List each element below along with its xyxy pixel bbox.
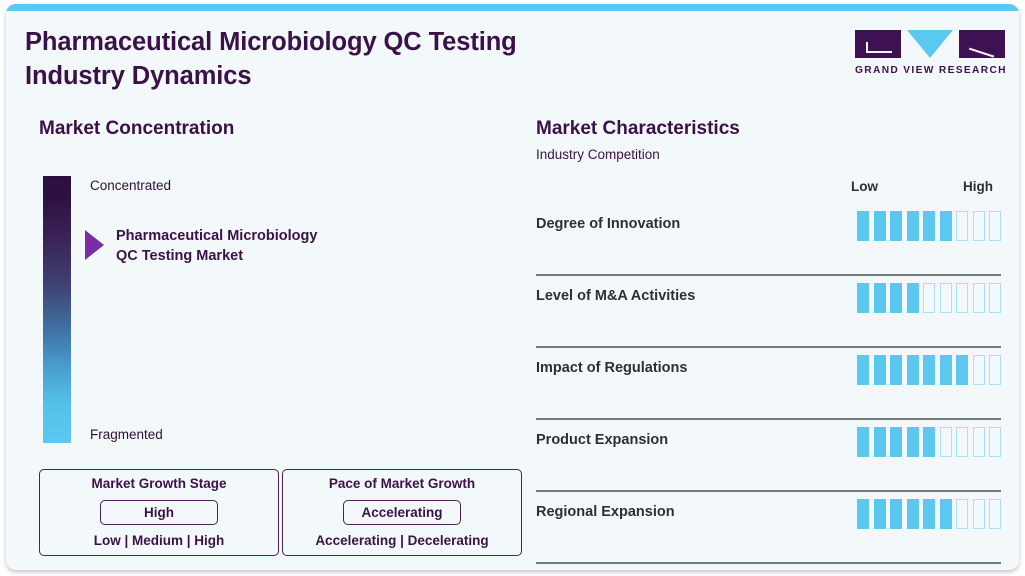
row-divider [536, 562, 1001, 564]
characteristic-rating [857, 355, 1001, 385]
rating-tick-empty [989, 211, 1001, 241]
rating-tick-filled [907, 427, 919, 457]
rating-tick-filled [890, 427, 902, 457]
rating-tick-empty [940, 283, 952, 313]
characteristic-row: Regional Expansion [536, 492, 1001, 564]
rating-tick-empty [973, 211, 985, 241]
rating-tick-filled [940, 355, 952, 385]
characteristic-rating [857, 499, 1001, 529]
page-title-line-2: Industry Dynamics [25, 60, 665, 94]
rating-tick-empty [973, 499, 985, 529]
characteristic-row: Degree of Innovation [536, 204, 1001, 276]
market-concentration-heading: Market Concentration [39, 118, 234, 140]
rating-tick-filled [907, 283, 919, 313]
rating-tick-empty [956, 499, 968, 529]
rating-tick-empty [940, 427, 952, 457]
rating-tick-filled [857, 283, 869, 313]
pace-of-market-growth-title: Pace of Market Growth [329, 476, 475, 491]
logo-g-block-icon [855, 30, 901, 58]
page-title: Pharmaceutical Microbiology QC Testing I… [25, 26, 665, 94]
rating-tick-filled [940, 499, 952, 529]
rating-tick-filled [907, 355, 919, 385]
rating-tick-empty [989, 355, 1001, 385]
market-characteristics-subheading: Industry Competition [536, 147, 660, 162]
characteristic-rating [857, 211, 1001, 241]
characteristic-row: Impact of Regulations [536, 348, 1001, 420]
rating-tick-filled [907, 499, 919, 529]
rating-tick-filled [874, 211, 886, 241]
market-position-label: Pharmaceutical Microbiology QC Testing M… [116, 227, 386, 266]
rating-tick-filled [890, 499, 902, 529]
market-position-label-line-1: Pharmaceutical Microbiology [116, 227, 386, 247]
scale-label-concentrated: Concentrated [90, 178, 171, 193]
concentration-gradient-bar [43, 176, 71, 443]
infographic-card: Pharmaceutical Microbiology QC Testing I… [6, 4, 1019, 570]
rating-tick-filled [857, 427, 869, 457]
rating-tick-empty [973, 355, 985, 385]
rating-tick-filled [874, 355, 886, 385]
page-title-line-1: Pharmaceutical Microbiology QC Testing [25, 26, 665, 60]
rating-tick-filled [874, 427, 886, 457]
characteristic-rating [857, 427, 1001, 457]
rating-tick-empty [989, 283, 1001, 313]
rating-tick-empty [973, 427, 985, 457]
characteristic-label: Degree of Innovation [536, 216, 680, 232]
logo-wordmark: GRAND VIEW RESEARCH [855, 65, 1005, 76]
logo-r-block-icon [959, 30, 1005, 58]
characteristic-label: Level of M&A Activities [536, 288, 695, 304]
rating-tick-filled [874, 499, 886, 529]
market-growth-stage-scale: Low | Medium | High [94, 533, 225, 548]
grand-view-research-logo: GRAND VIEW RESEARCH [855, 30, 1005, 76]
rating-tick-empty [989, 499, 1001, 529]
market-position-arrow-icon [85, 230, 104, 260]
rating-scale-low-label: Low [851, 179, 878, 194]
rating-tick-filled [940, 211, 952, 241]
rating-tick-empty [956, 283, 968, 313]
rating-scale-high-label: High [963, 179, 993, 194]
rating-tick-filled [923, 211, 935, 241]
rating-tick-filled [923, 427, 935, 457]
rating-tick-filled [857, 211, 869, 241]
rating-tick-empty [923, 283, 935, 313]
market-growth-stage-value: High [100, 500, 218, 525]
rating-tick-empty [973, 283, 985, 313]
rating-tick-filled [890, 283, 902, 313]
rating-tick-empty [956, 427, 968, 457]
rating-tick-filled [890, 211, 902, 241]
logo-marks [855, 30, 1005, 59]
characteristic-label: Product Expansion [536, 432, 668, 448]
characteristic-label: Impact of Regulations [536, 360, 687, 376]
rating-tick-empty [956, 211, 968, 241]
rating-tick-filled [890, 355, 902, 385]
logo-v-triangle-icon [907, 30, 953, 58]
rating-tick-filled [923, 499, 935, 529]
rating-tick-filled [857, 499, 869, 529]
scale-label-fragmented: Fragmented [90, 427, 163, 442]
rating-tick-empty [989, 427, 1001, 457]
characteristic-label: Regional Expansion [536, 504, 675, 520]
rating-tick-filled [923, 355, 935, 385]
pace-of-market-growth-box: Pace of Market Growth Accelerating Accel… [282, 469, 522, 556]
pace-of-market-growth-scale: Accelerating | Decelerating [315, 533, 488, 548]
characteristic-row: Level of M&A Activities [536, 276, 1001, 348]
characteristic-row: Product Expansion [536, 420, 1001, 492]
rating-tick-filled [874, 283, 886, 313]
market-growth-stage-box: Market Growth Stage High Low | Medium | … [39, 469, 279, 556]
characteristic-rating [857, 283, 1001, 313]
rating-tick-filled [907, 211, 919, 241]
rating-tick-filled [857, 355, 869, 385]
rating-tick-filled [956, 355, 968, 385]
pace-of-market-growth-value: Accelerating [343, 500, 461, 525]
market-growth-stage-title: Market Growth Stage [91, 476, 226, 491]
top-accent-bar [6, 4, 1019, 11]
market-position-label-line-2: QC Testing Market [116, 247, 386, 267]
market-characteristics-heading: Market Characteristics [536, 118, 740, 140]
infographic-root: Pharmaceutical Microbiology QC Testing I… [0, 0, 1025, 576]
